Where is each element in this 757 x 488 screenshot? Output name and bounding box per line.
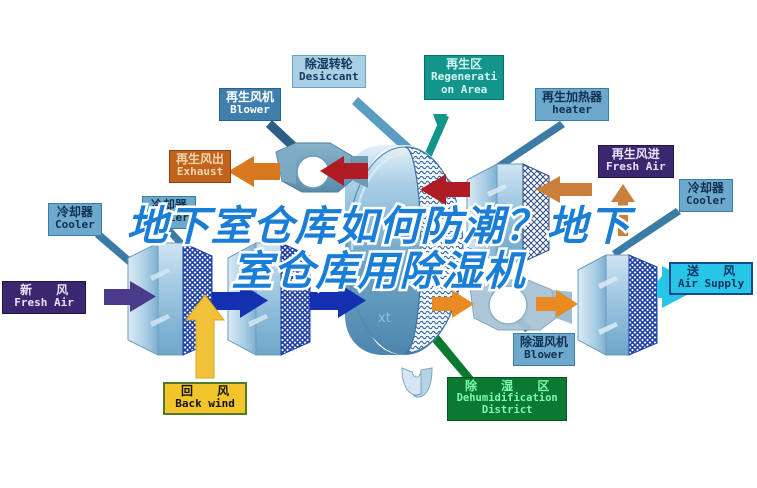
regen-fresh-arrow-up	[611, 184, 635, 236]
label-regeneration-fresh-air-in-cn: 再生风进	[606, 148, 666, 161]
dehumidifier-schematic: xt	[0, 0, 757, 488]
label-desiccant-wheel[interactable]: 除湿转轮 Desiccant	[292, 55, 366, 88]
label-dehumidification-district[interactable]: 除 湿 区 Dehumidification District	[447, 377, 567, 421]
exhaust-arrow	[228, 156, 280, 187]
label-cooler-left-1[interactable]: 冷却器 Cooler	[48, 203, 102, 236]
label-dehumidification-blower-en: Blower	[520, 349, 568, 361]
label-air-supply-cn: 送 风	[677, 265, 745, 278]
label-air-supply-en: Air Supply	[677, 278, 745, 290]
label-dehumidification-district-cn: 除 湿 区	[455, 380, 559, 393]
label-dehumidification-district-en2: District	[455, 405, 559, 417]
label-regeneration-area[interactable]: 再生区 Regenerati on Area	[424, 55, 504, 100]
label-fresh-air-in-en: Fresh Air	[10, 297, 78, 309]
label-cooler-left-1-cn: 冷却器	[55, 206, 95, 219]
label-cooler-right-en: Cooler	[686, 195, 726, 207]
label-cooler-right[interactable]: 冷却器 Cooler	[679, 179, 733, 212]
label-exhaust-en: Exhaust	[176, 166, 224, 178]
label-cooler-left-1-en: Cooler	[55, 219, 95, 231]
label-regeneration-heater-cn: 再生加热器	[542, 91, 602, 104]
cooler-coil-right	[578, 255, 657, 355]
regeneration-heater-coil	[467, 164, 549, 262]
label-desiccant-wheel-cn: 除湿转轮	[299, 58, 359, 71]
label-cooler-left-2-en: Cooler	[149, 212, 189, 224]
label-regeneration-heater[interactable]: 再生加热器 heater	[535, 88, 609, 121]
label-regeneration-fresh-air-in[interactable]: 再生风进 Fresh Air	[598, 145, 674, 178]
label-regeneration-area-en1: Regenerati	[431, 71, 497, 83]
label-regeneration-blower-en: Blower	[226, 104, 274, 116]
label-exhaust-cn: 再生风出	[176, 153, 224, 166]
label-regeneration-heater-en: heater	[542, 104, 602, 116]
rotor-drain-piece	[402, 368, 432, 397]
label-cooler-left-2-cn: 冷却器	[149, 199, 189, 212]
diagram-canvas: xt	[0, 0, 757, 488]
label-cooler-left-2[interactable]: 冷却器 Cooler	[142, 196, 196, 229]
label-desiccant-wheel-en: Desiccant	[299, 71, 359, 83]
label-fresh-air-in[interactable]: 新 风 Fresh Air	[2, 281, 86, 314]
label-back-wind[interactable]: 回 风 Back wind	[163, 382, 247, 415]
label-dehumidification-blower[interactable]: 除湿风机 Blower	[513, 333, 575, 366]
label-dehumidification-blower-cn: 除湿风机	[520, 336, 568, 349]
label-regeneration-blower-cn: 再生风机	[226, 91, 274, 104]
label-regeneration-fresh-air-in-en: Fresh Air	[606, 161, 666, 173]
label-regeneration-area-en2: on Area	[431, 84, 497, 96]
label-back-wind-en: Back wind	[171, 398, 239, 410]
label-air-supply[interactable]: 送 风 Air Supply	[669, 262, 753, 295]
label-exhaust[interactable]: 再生风出 Exhaust	[169, 150, 231, 183]
svg-text:xt: xt	[378, 311, 391, 326]
label-regeneration-blower[interactable]: 再生风机 Blower	[219, 88, 281, 121]
label-back-wind-cn: 回 风	[171, 385, 239, 398]
label-cooler-right-cn: 冷却器	[686, 182, 726, 195]
label-fresh-air-in-cn: 新 风	[10, 284, 78, 297]
label-regeneration-area-cn: 再生区	[431, 58, 497, 71]
